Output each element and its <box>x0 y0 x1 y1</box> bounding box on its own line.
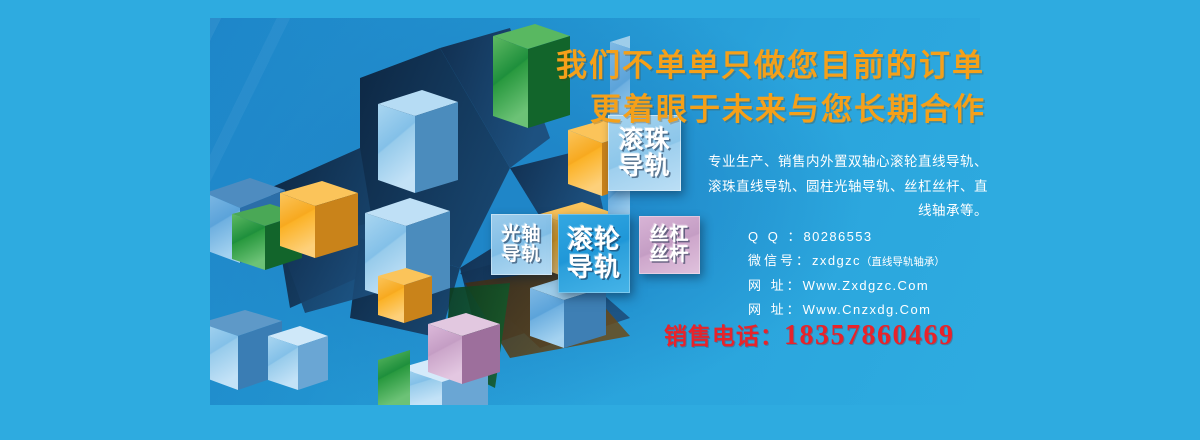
contact-row-wechat: 微信号：zxdgzc（直线导轨轴承） <box>748 249 988 273</box>
tile-screw-rod-line1: 丝杠 <box>649 225 689 245</box>
qq-value: 80286553 <box>803 229 872 244</box>
tile-shaft-rail: 光轴 导轨 <box>491 214 552 275</box>
description-line-1: 专业生产、销售内外置双轴心滚轮直线导轨、 <box>640 150 988 175</box>
headline-line-1: 我们不单单只做您目前的订单 <box>556 44 986 88</box>
tile-roller-rail: 滚轮 导轨 <box>558 214 630 293</box>
wechat-note: （直线导轨轴承） <box>861 256 945 268</box>
sales-phone-number[interactable]: 18357860469 <box>784 320 955 351</box>
contact-row-qq: Q Q ：80286553 <box>748 225 988 249</box>
tile-screw-rod-line2: 丝杆 <box>649 245 689 265</box>
headline-line-2: 更着眼于未来与您长期合作 <box>556 88 986 132</box>
description-line-3: 线轴承等。 <box>640 199 988 224</box>
website-1-value[interactable]: Www.Zxdgzc.Com <box>803 278 930 293</box>
contact-block: Q Q ：80286553 微信号：zxdgzc（直线导轨轴承） 网 址：Www… <box>748 225 988 323</box>
wechat-value: zxdgzc <box>812 253 861 268</box>
sales-phone: 销售电话：18357860469 <box>664 317 955 352</box>
headline: 我们不单单只做您目前的订单 更着眼于未来与您长期合作 <box>556 44 986 132</box>
tile-screw-rod: 丝杠 丝杆 <box>639 216 700 274</box>
website-2-value[interactable]: Www.Cnzxdg.Com <box>803 302 932 317</box>
promo-banner: 滚珠 导轨 光轴 导轨 滚轮 导轨 丝杠 丝杆 我们不单单只做您目前的订单 更着… <box>0 0 1200 440</box>
description-paragraph: 专业生产、销售内外置双轴心滚轮直线导轨、 滚珠直线导轨、圆柱光轴导轨、丝杠丝杆、… <box>640 150 988 224</box>
description-line-2: 滚珠直线导轨、圆柱光轴导轨、丝杠丝杆、直 <box>640 175 988 200</box>
wechat-label: 微信号： <box>748 249 812 273</box>
website-1-label: 网 址： <box>748 274 803 298</box>
tile-roller-rail-line1: 滚轮 <box>567 226 621 253</box>
tile-shaft-rail-line2: 导轨 <box>501 245 541 265</box>
sales-phone-label: 销售电话： <box>664 323 784 349</box>
contact-row-website-1: 网 址：Www.Zxdgzc.Com <box>748 274 988 298</box>
qq-label: Q Q ： <box>748 225 803 249</box>
tile-shaft-rail-line1: 光轴 <box>501 225 541 245</box>
tile-roller-rail-line2: 导轨 <box>567 254 621 281</box>
